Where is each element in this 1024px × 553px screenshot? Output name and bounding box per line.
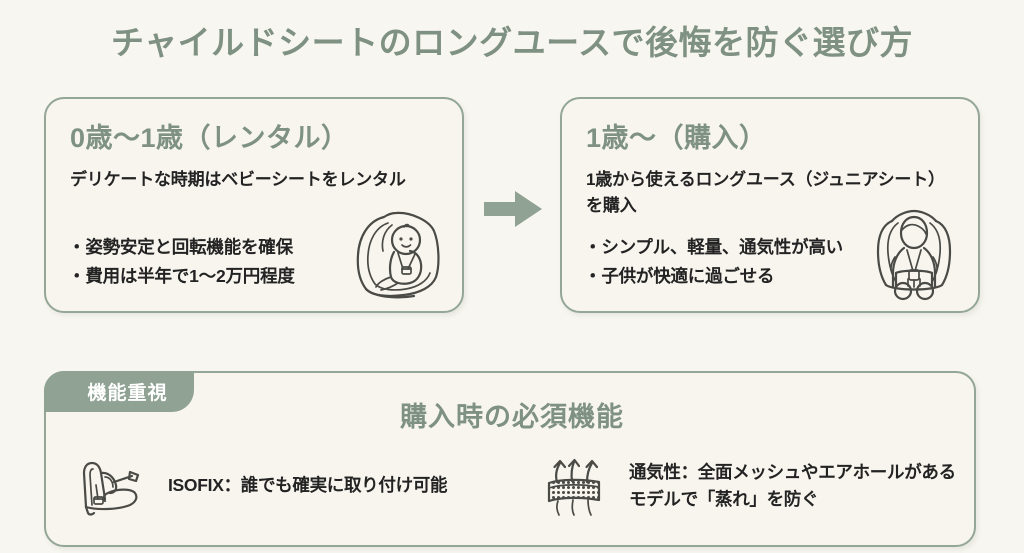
feature-text: ISOFIX：誰でも確実に取り付け可能 <box>168 472 447 499</box>
isofix-car-seat-icon <box>72 455 146 517</box>
mesh-ventilation-icon <box>541 455 615 517</box>
stage-card-rental: 0歳〜1歳（レンタル） デリケートな時期はベビーシートをレンタル 姿勢安定と回転… <box>44 97 464 313</box>
list-item: 通気性：全面メッシュやエアホールがあるモデルで「蒸れ」を防ぐ <box>501 455 978 517</box>
feature-panel: 機能重視 購入時の必須機能 <box>44 371 976 547</box>
card-heading-rental: 0歳〜1歳（レンタル） <box>70 116 349 155</box>
stage-card-purchase: 1歳〜（購入） 1歳から使えるロングユース（ジュニアシート）を購入 シンプル、軽… <box>560 97 980 313</box>
feature-text: 通気性：全面メッシュやエアホールがあるモデルで「蒸れ」を防ぐ <box>629 459 959 513</box>
feature-list: ISOFIX：誰でも確実に取り付け可能 <box>46 455 978 517</box>
arrow-right-icon <box>482 188 544 230</box>
panel-title: 購入時の必須機能 <box>46 395 978 434</box>
list-item: ISOFIX：誰でも確実に取り付け可能 <box>46 455 501 517</box>
junior-car-seat-icon <box>864 207 964 303</box>
infant-car-seat-icon <box>348 207 448 303</box>
card-lead-rental: デリケートな時期はベビーシートをレンタル <box>70 167 430 193</box>
page-title: チャイルドシートのロングユースで後悔を防ぐ選び方 <box>0 23 1024 63</box>
card-heading-purchase: 1歳〜（購入） <box>586 116 767 155</box>
